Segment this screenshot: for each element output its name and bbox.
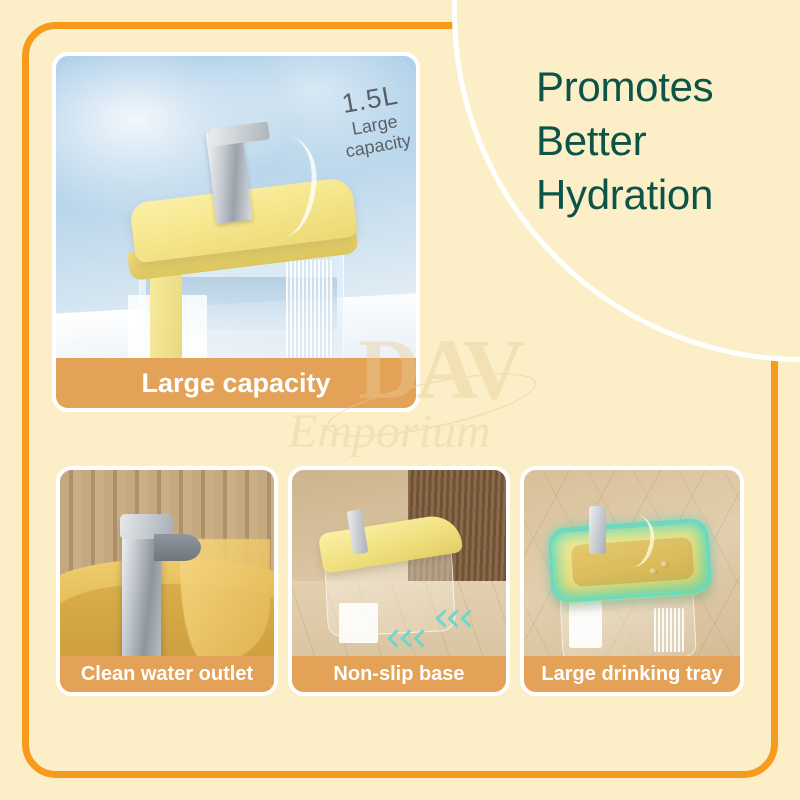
tank-filter (654, 608, 684, 652)
feature-caption-1: Clean water outlet (60, 656, 274, 692)
hero-product-photo: 1.5L Large capacity (56, 56, 416, 408)
headline-line-1: Promotes (536, 60, 713, 114)
feature-card-non-slip-base: Non-slip base (288, 466, 510, 696)
outlet-lip (154, 534, 201, 561)
capacity-annotation: 1.5L Large capacity (335, 81, 412, 163)
hero-caption: Large capacity (56, 358, 416, 408)
hero-product-card: 1.5L Large capacity Large capacity (52, 52, 420, 412)
feature-card-large-drinking-tray: Large drinking tray (520, 466, 744, 696)
feature-caption-3: Large drinking tray (524, 656, 740, 692)
tank-pump-block (339, 603, 378, 643)
page-title: Promotes Better Hydration (536, 60, 713, 221)
tank-pump-block (569, 599, 601, 648)
feature-card-clean-water-outlet: Clean water outlet (56, 466, 278, 696)
headline-line-2: Better (536, 114, 713, 168)
water-spout (589, 506, 606, 555)
watermark-word: Emporium (288, 408, 491, 456)
tank-filter (286, 260, 333, 366)
tray-bubble (649, 568, 658, 575)
feature-caption-2: Non-slip base (292, 656, 506, 692)
headline-line-3: Hydration (536, 168, 713, 222)
product-infographic-poster: Promotes Better Hydration DAV Emporium 1… (0, 0, 800, 800)
